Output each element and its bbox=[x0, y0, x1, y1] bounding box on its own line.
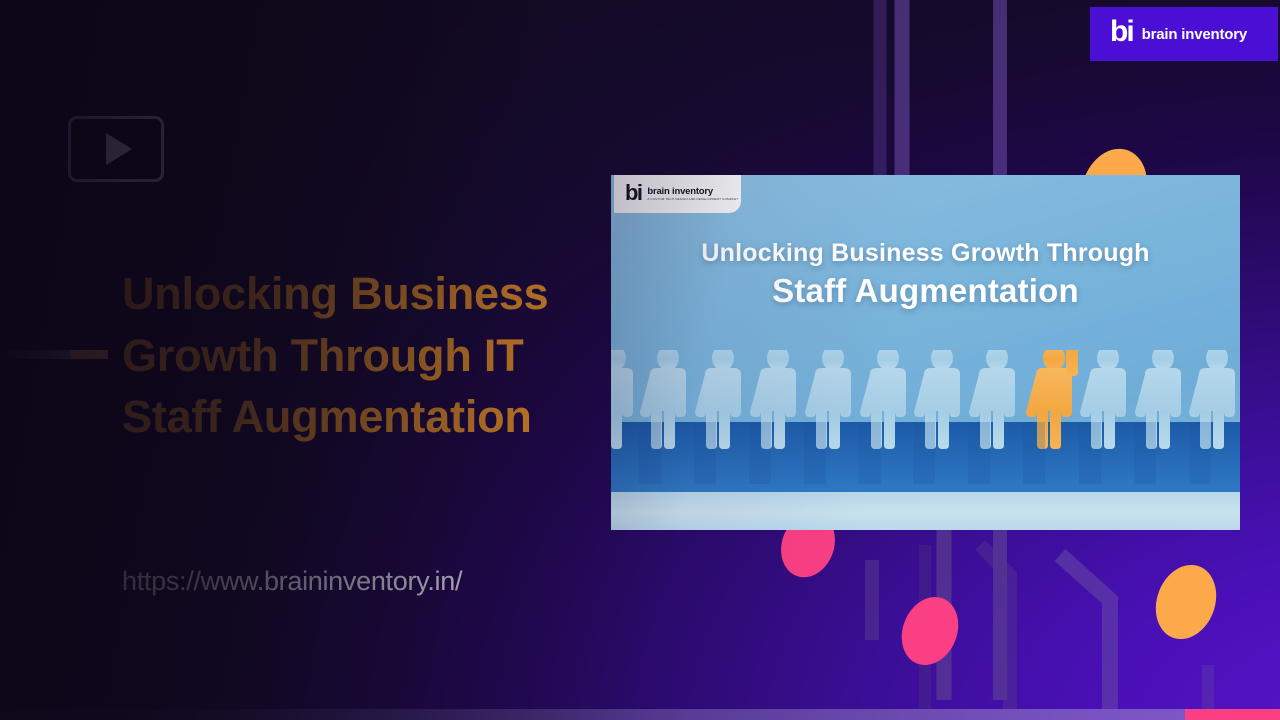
floor-reflection bbox=[611, 492, 1240, 530]
bottom-accent-strip bbox=[0, 709, 1280, 720]
brand-logo-mark-icon: bi bbox=[1110, 17, 1133, 47]
website-url-link[interactable]: https://www.braininventory.in/ bbox=[122, 566, 462, 597]
thumbnail-brand-logo: bi brain inventory A CUSTOM TECH DESIGN … bbox=[614, 175, 741, 213]
video-thumbnail-card[interactable]: Unlocking Business Growth Through Staff … bbox=[611, 175, 1240, 530]
headline-line-2: Growth Through IT bbox=[122, 325, 622, 387]
thumbnail-title-line-1: Unlocking Business Growth Through bbox=[611, 239, 1240, 268]
headline-line-3: Staff Augmentation bbox=[122, 386, 622, 448]
headline-accent-rule bbox=[0, 350, 108, 359]
thumbnail-logo-tagline: A CUSTOM TECH DESIGN AND DEVELOPMENT COM… bbox=[647, 198, 738, 201]
headline-line-1: Unlocking Business bbox=[122, 263, 622, 325]
thumbnail-title: Unlocking Business Growth Through Staff … bbox=[611, 239, 1240, 310]
accent-rule-grey-segment bbox=[0, 350, 70, 359]
play-button[interactable] bbox=[68, 116, 164, 182]
brand-logo-wordmark: brain inventory bbox=[1142, 26, 1247, 43]
thumbnail-logo-wordmark: brain inventory bbox=[647, 187, 738, 197]
play-icon bbox=[106, 133, 132, 165]
page-title: Unlocking Business Growth Through IT Sta… bbox=[122, 263, 622, 448]
accent-rule-orange-segment bbox=[70, 350, 108, 359]
slide-canvas: Unlocking Business Growth Through IT Sta… bbox=[0, 0, 1280, 720]
brand-logo-badge: bi brain inventory bbox=[1090, 7, 1278, 61]
thumbnail-logo-mark-icon: bi bbox=[625, 182, 641, 204]
bottom-accent-strip-pink bbox=[1185, 709, 1280, 720]
thumbnail-title-line-2: Staff Augmentation bbox=[611, 272, 1240, 310]
